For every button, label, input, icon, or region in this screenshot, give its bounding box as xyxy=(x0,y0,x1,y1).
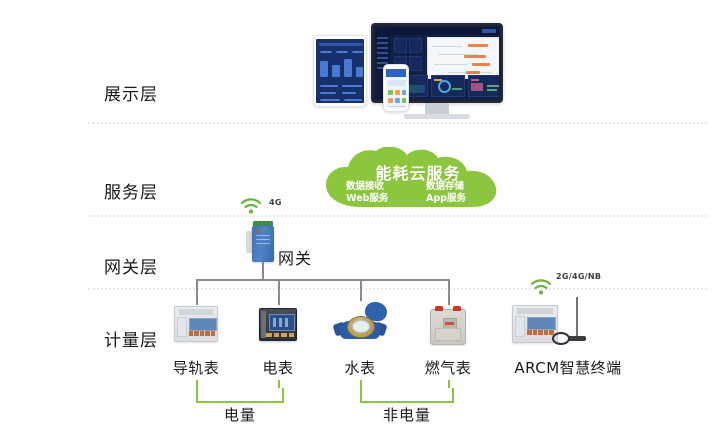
dashboard-widget-gauge xyxy=(431,75,465,97)
water-meter xyxy=(334,301,390,345)
architecture-diagram: 展示层 服务层 网关层 计量层 xyxy=(0,0,715,443)
cloud-feature-app-service: App服务 xyxy=(426,193,466,205)
dashboard-widget-table xyxy=(468,75,499,97)
antenna-cable xyxy=(552,332,570,345)
tablet-device xyxy=(313,35,367,107)
group-label-electricity: 电量 xyxy=(198,404,282,425)
layer-label-service: 服务层 xyxy=(104,178,194,203)
cloud-feature-web-service: Web服务 xyxy=(346,193,388,205)
bracket-tick-gas xyxy=(448,380,450,388)
gateway-label: 网关 xyxy=(278,245,312,269)
din-rail-meter xyxy=(174,306,218,342)
connector-drop-water xyxy=(360,279,362,301)
gateway-device xyxy=(252,226,274,262)
cloud-feature-data-storage: 数据存储 xyxy=(426,181,464,193)
electric-meter xyxy=(259,308,297,341)
antenna-rod xyxy=(576,297,578,339)
arcm-network-tag: 2G/4G/NB xyxy=(556,272,601,281)
divider-display-service xyxy=(88,122,707,124)
water-meter-label: 水表 xyxy=(324,357,396,378)
phone-screen xyxy=(386,69,406,107)
gas-meter xyxy=(430,309,466,345)
connector-drop-gas xyxy=(448,279,450,305)
connector-drop-din xyxy=(196,279,198,305)
bracket-tick-water xyxy=(360,380,362,388)
din-rail-meter-label: 导轨表 xyxy=(160,357,232,378)
bracket-tick-electric xyxy=(278,380,280,388)
connector-bus xyxy=(196,279,449,281)
bracket-non-electricity xyxy=(360,388,454,403)
layer-label-gateway: 网关层 xyxy=(104,253,194,278)
tablet-screen xyxy=(316,39,364,103)
electric-meter-label: 电表 xyxy=(242,357,314,378)
antenna-base xyxy=(568,336,586,341)
arcm-terminal-label: ARCM智慧终端 xyxy=(508,357,628,378)
connector-gateway-bus xyxy=(262,262,264,280)
gas-meter-label: 燃气表 xyxy=(412,357,484,378)
dashboard-map xyxy=(427,37,499,79)
bracket-electricity xyxy=(196,388,284,403)
divider-service-gateway xyxy=(88,215,707,217)
cloud-feature-data-receive: 数据接收 xyxy=(346,181,384,193)
wifi-icon-arcm xyxy=(530,277,552,295)
divider-gateway-metering xyxy=(88,288,707,290)
group-label-non-electricity: 非电量 xyxy=(362,404,452,425)
cloud-service: 能耗云服务 数据接收 Web服务 数据存储 App服务 xyxy=(322,147,514,209)
gateway-network-tag: 4G xyxy=(269,198,282,207)
layer-label-display: 展示层 xyxy=(104,80,194,105)
monitor-stand-base xyxy=(404,114,470,119)
connector-drop-electric xyxy=(278,279,280,305)
bracket-tick-din xyxy=(196,380,198,388)
smartphone-device xyxy=(383,64,409,112)
wifi-icon-gateway xyxy=(240,196,262,214)
